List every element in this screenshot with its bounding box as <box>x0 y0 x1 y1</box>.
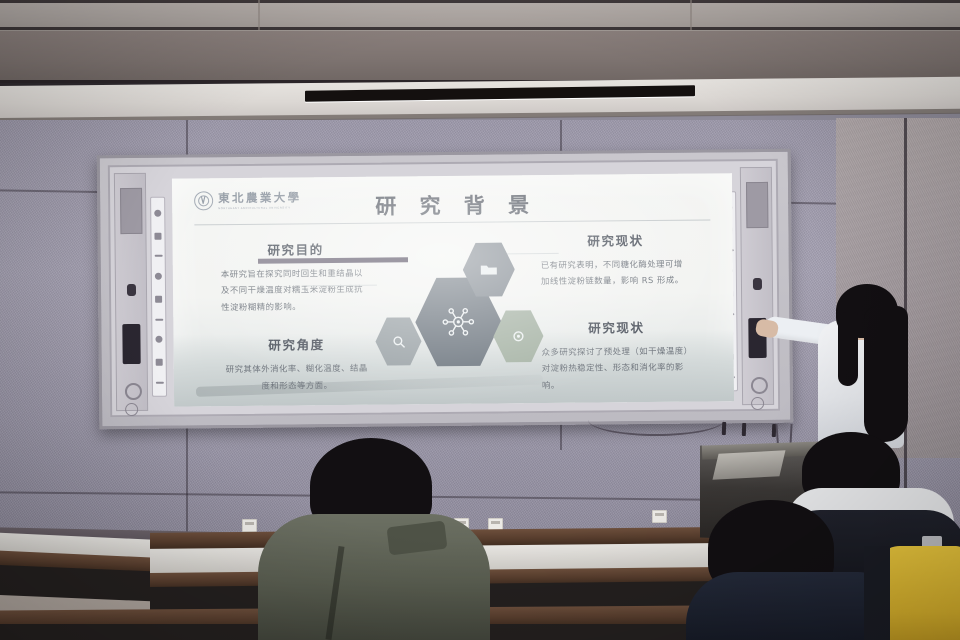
cable-clip <box>722 422 726 435</box>
ceiling-grid-line <box>690 0 692 30</box>
molecule-icon <box>441 307 475 337</box>
menu-tool-icon[interactable] <box>155 382 163 384</box>
ceiling-seam-lower <box>0 27 960 30</box>
classroom-scene: 東北農業大學 NORTHEAST AGRICULTURAL UNIVERSITY… <box>0 0 960 640</box>
hexagon-node-search <box>375 316 421 366</box>
search-icon <box>391 334 406 349</box>
section-body-purpose: 本研究旨在探究同时回生和重结晶以及不同干燥温度对糯玉米淀粉生成抗性淀粉糊精的影响… <box>221 265 371 316</box>
section-body-status-1: 已有研究表明，不同糖化酶处理可增加线性淀粉链数量，影响 RS 形成。 <box>541 256 691 290</box>
save-tool-icon[interactable] <box>156 359 163 366</box>
cable-clip <box>742 423 746 436</box>
laptop <box>713 450 786 479</box>
section-heading-status-1: 研究现状 <box>540 230 690 250</box>
rail-button-panel[interactable] <box>746 182 768 228</box>
section-heading-perspective: 研究角度 <box>221 334 371 354</box>
shape-tool-icon[interactable] <box>155 273 162 280</box>
jacket-shadow-edge <box>864 546 890 640</box>
slide-title: 研 究 背 景 <box>172 187 732 222</box>
circle-icon[interactable] <box>125 403 138 416</box>
whiteboard-inner-frame: 東北農業大學 NORTHEAST AGRICULTURAL UNIVERSITY… <box>108 159 780 417</box>
audience-member-right-front <box>690 500 890 640</box>
presenter-hair-side <box>838 312 858 386</box>
audience-member-front-center <box>240 438 500 640</box>
wall-outlet <box>652 510 667 523</box>
left-tool-strip[interactable] <box>150 197 167 397</box>
olive-jacket <box>258 514 490 640</box>
ceiling-grid-line <box>258 0 260 30</box>
select-tool-icon[interactable] <box>155 296 162 303</box>
folder-icon <box>480 262 498 276</box>
section-heading-status-2: 研究现状 <box>541 316 691 336</box>
slide-column-right: 研究现状 已有研究表明，不同糖化酶处理可增加线性淀粉链数量，影响 RS 形成。 … <box>540 230 692 393</box>
section-heading-purpose: 研究目的 <box>221 239 371 259</box>
ceiling-seam-top <box>0 0 960 3</box>
section-body-perspective: 研究其体外消化率、糊化温度、结晶度和形态等方面。 <box>222 360 372 394</box>
presenter-hand <box>755 318 780 339</box>
rail-button-panel[interactable] <box>120 188 142 234</box>
line-tool-icon[interactable] <box>154 255 162 257</box>
gear-icon[interactable] <box>125 383 142 400</box>
undo-tool-icon[interactable] <box>155 318 163 320</box>
hexagon-node-gear <box>493 309 544 363</box>
rail-display-slot <box>122 324 140 364</box>
gear-icon <box>510 328 526 344</box>
presenter-hair-long <box>864 306 908 442</box>
interactive-whiteboard[interactable]: 東北農業大學 NORTHEAST AGRICULTURAL UNIVERSITY… <box>97 149 794 430</box>
pen-tool-icon[interactable] <box>154 210 161 217</box>
eraser-tool-icon[interactable] <box>154 232 161 239</box>
audience-member-right-edge <box>874 546 960 640</box>
section-body-status-2: 众多研究探讨了预处理（如干燥温度）对淀粉热稳定性、形态和消化率的影响。 <box>542 342 692 393</box>
ceiling-band <box>0 31 960 83</box>
power-button[interactable] <box>127 284 136 296</box>
hanging-cable <box>588 404 724 436</box>
color-tool-icon[interactable] <box>155 336 162 343</box>
whiteboard-left-rail[interactable] <box>114 173 148 411</box>
projected-slide: 東北農業大學 NORTHEAST AGRICULTURAL UNIVERSITY… <box>172 173 734 406</box>
